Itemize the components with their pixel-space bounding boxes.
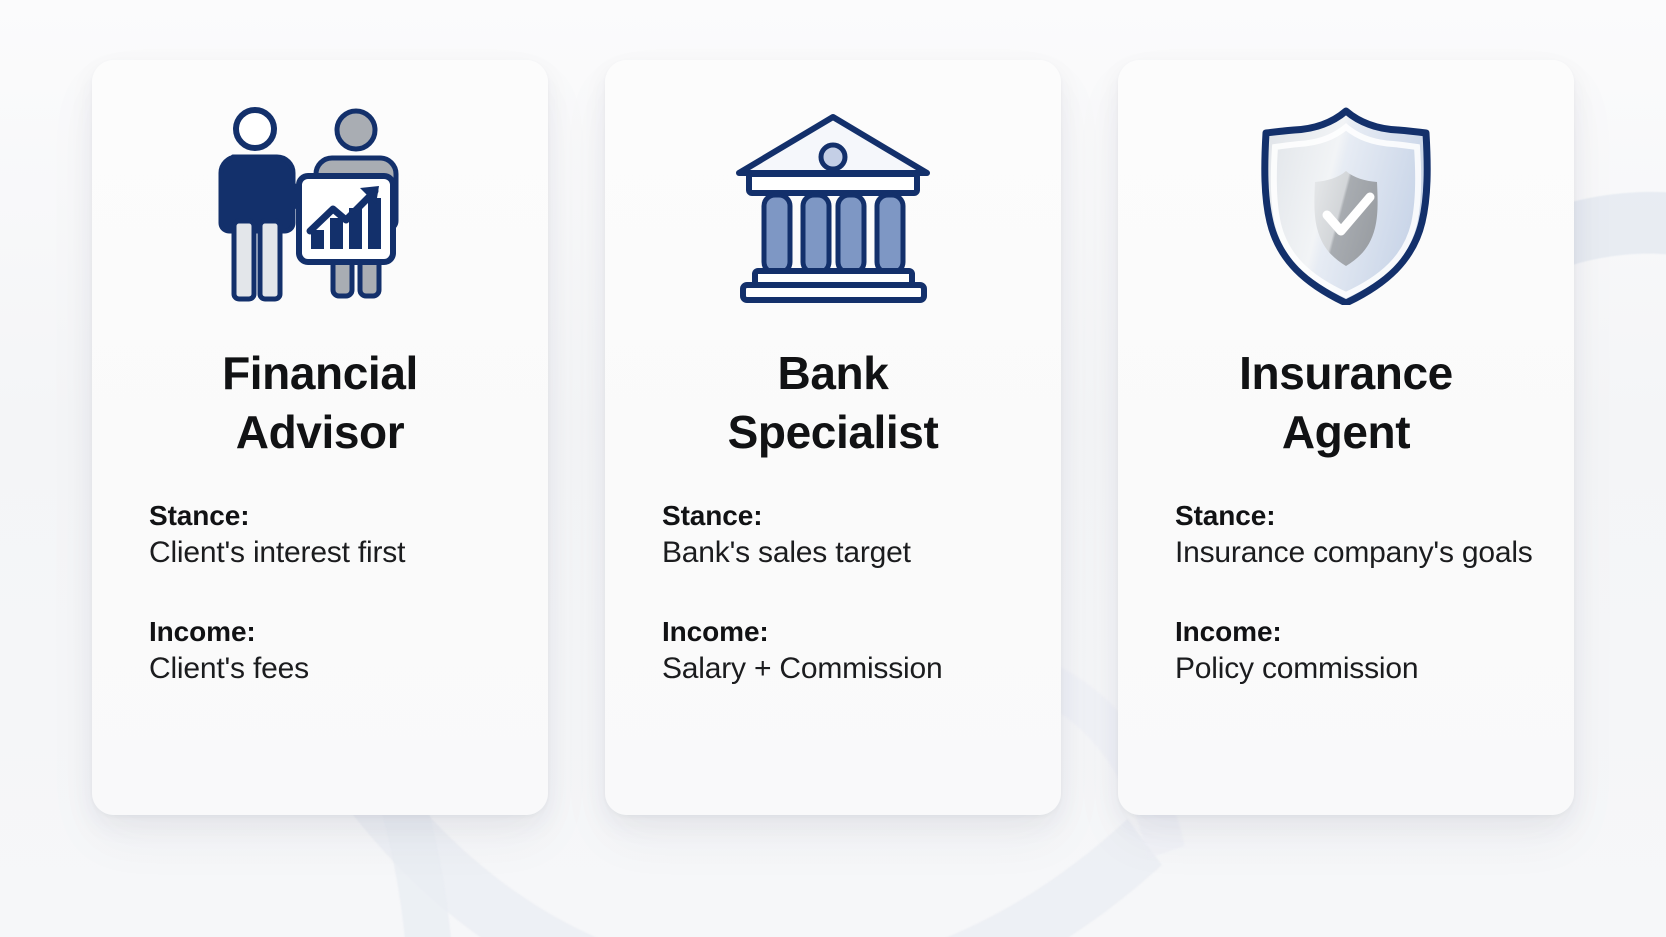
field-income: Income: Policy commission [1175,614,1548,688]
field-income: Income: Client's fees [149,614,522,688]
page-background: Financial Advisor Stance: Client's inter… [0,0,1666,937]
card-bank-specialist[interactable]: Bank Specialist Stance: Bank's sales tar… [605,60,1061,815]
field-stance: Stance: Bank's sales target [662,498,1035,572]
income-value: Policy commission [1175,650,1548,688]
bank-building-icon [605,60,1061,350]
income-label: Income: [1175,614,1548,650]
card-title: Financial Advisor [92,344,548,462]
income-label: Income: [662,614,1035,650]
income-value: Salary + Commission [662,650,1035,688]
card-title: Bank Specialist [605,344,1061,462]
stance-value: Bank's sales target [662,534,1035,572]
card-fields: Stance: Insurance company's goals Income… [1118,498,1574,688]
advisor-presentation-icon [92,60,548,350]
stance-value: Insurance company's goals [1175,534,1548,572]
card-financial-advisor[interactable]: Financial Advisor Stance: Client's inter… [92,60,548,815]
shield-check-icon [1118,60,1574,350]
stance-value: Client's interest first [149,534,522,572]
card-fields: Stance: Client's interest first Income: … [92,498,548,688]
field-income: Income: Salary + Commission [662,614,1035,688]
income-label: Income: [149,614,522,650]
comparison-card-row: Financial Advisor Stance: Client's inter… [92,60,1574,815]
stance-label: Stance: [1175,498,1548,534]
field-stance: Stance: Client's interest first [149,498,522,572]
card-insurance-agent[interactable]: Insurance Agent Stance: Insurance compan… [1118,60,1574,815]
income-value: Client's fees [149,650,522,688]
stance-label: Stance: [149,498,522,534]
stance-label: Stance: [662,498,1035,534]
field-stance: Stance: Insurance company's goals [1175,498,1548,572]
card-title: Insurance Agent [1118,344,1574,462]
card-fields: Stance: Bank's sales target Income: Sala… [605,498,1061,688]
